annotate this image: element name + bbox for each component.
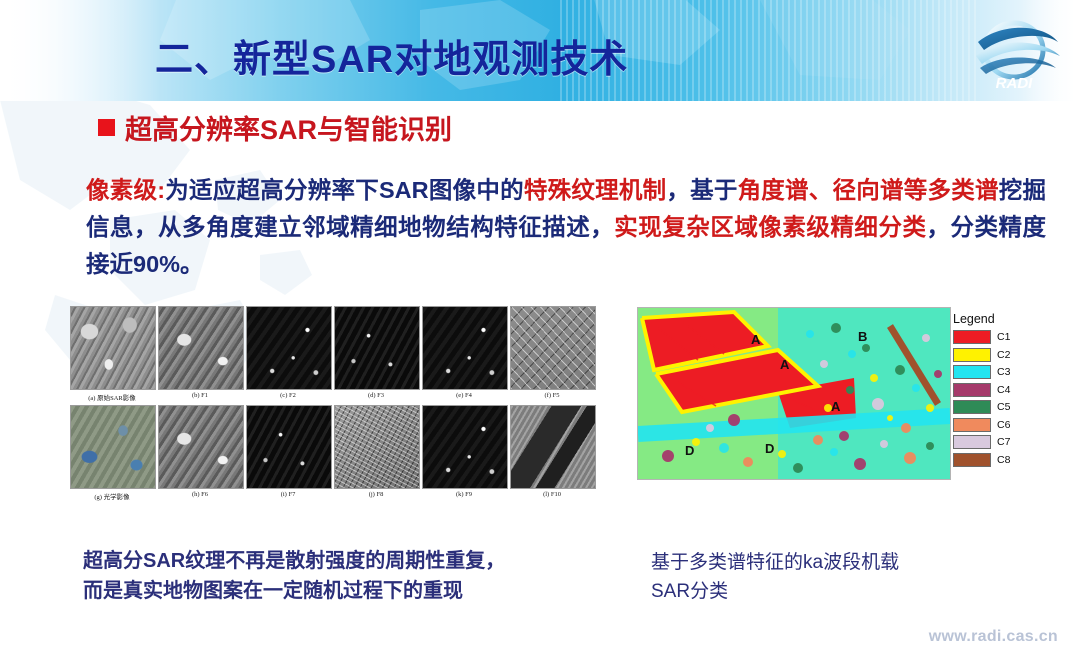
legend-item-label: C7 xyxy=(997,436,1010,448)
sar-image-caption: (e) F4 xyxy=(422,392,506,399)
legend-item-label: C6 xyxy=(997,419,1010,431)
sar-image-caption: (d) F3 xyxy=(334,392,418,399)
legend-item-label: C4 xyxy=(997,384,1010,396)
legend-title: Legend xyxy=(953,312,1025,326)
legend-color-swatch xyxy=(953,383,991,397)
legend-item: C7 xyxy=(953,435,1025,449)
legend-color-swatch xyxy=(953,435,991,449)
left-figure-caption: 超高分SAR纹理不再是散射强度的周期性重复， 而是真实地物图案在一定随机过程下的… xyxy=(83,546,623,606)
legend-item: C5 xyxy=(953,400,1025,414)
sar-image-thumbnail xyxy=(246,405,332,489)
legend-item: C3 xyxy=(953,365,1025,379)
sar-grid-cell: (d) F3 xyxy=(334,306,418,405)
map-region-label: D xyxy=(765,441,774,456)
sar-image-thumbnail xyxy=(510,306,596,390)
sar-image-thumbnail xyxy=(422,405,508,489)
logo-text: RADI xyxy=(996,75,1033,92)
left-caption-line-2: 而是真实地物图案在一定随机过程下的重现 xyxy=(83,576,623,606)
sar-grid-cell: (j) F8 xyxy=(334,405,418,504)
map-region-label: D xyxy=(685,443,694,458)
sar-image-thumbnail xyxy=(70,405,156,489)
sar-image-thumbnail xyxy=(158,405,244,489)
sar-image-caption: (g) 光学影像 xyxy=(70,491,154,501)
legend-item: C1 xyxy=(953,330,1025,344)
legend-item-label: C1 xyxy=(997,331,1010,343)
sar-grid-cell: (f) F5 xyxy=(510,306,594,405)
sar-grid-cell: (c) F2 xyxy=(246,306,330,405)
legend-color-swatch xyxy=(953,418,991,432)
paragraph-segment-4: 角度谱、径向谱等多类谱 xyxy=(738,177,999,203)
sar-image-thumbnail xyxy=(334,306,420,390)
map-region-label: B xyxy=(858,329,867,344)
sar-grid-cell: (e) F4 xyxy=(422,306,506,405)
footer-url[interactable]: www.radi.cas.cn xyxy=(929,628,1058,646)
page-title: 二、新型SAR对地观测技术 xyxy=(155,28,628,83)
legend-item: C4 xyxy=(953,383,1025,397)
map-region-label: A xyxy=(751,332,760,347)
map-legend: Legend C1C2C3C4C5C6C7C8 xyxy=(953,312,1025,470)
sar-image-caption: (i) F7 xyxy=(246,491,330,498)
section-heading: 超高分辨率SAR与智能识别 xyxy=(98,108,452,147)
body-paragraph: 像素级:为适应超高分辨率下SAR图像中的特殊纹理机制，基于角度谱、径向谱等多类谱… xyxy=(86,172,1046,283)
square-bullet-icon xyxy=(98,119,115,136)
sar-grid-cell: (a) 原始SAR影像 xyxy=(70,306,154,405)
paragraph-segment-6: 实现复杂区域像素级精细分类 xyxy=(614,214,926,240)
sar-image-caption: (h) F6 xyxy=(158,491,242,498)
paragraph-segment-2: 特殊纹理机制 xyxy=(524,177,666,203)
legend-color-swatch xyxy=(953,365,991,379)
sar-grid-cell: (b) F1 xyxy=(158,306,242,405)
sar-grid-row-2: (g) 光学影像(h) F6(i) F7(j) F8(k) F9(l) F10 xyxy=(70,405,606,504)
radi-logo-icon: RADI xyxy=(962,16,1066,92)
slide: 二、新型SAR对地观测技术 RADI 超高分辨率SAR与 xyxy=(0,0,1080,662)
paragraph-segment-0: 像素级: xyxy=(86,177,165,203)
sar-image-thumbnail xyxy=(422,306,508,390)
sar-image-caption: (f) F5 xyxy=(510,392,594,399)
sar-image-thumbnail xyxy=(510,405,596,489)
header-fade-left xyxy=(0,0,160,101)
paragraph-segment-1: 为适应超高分辨率下SAR图像中的 xyxy=(165,177,524,203)
sar-image-thumbnail xyxy=(246,306,332,390)
right-caption-line-1: 基于多类谱特征的ka波段机载 xyxy=(651,548,981,577)
sar-grid-cell: (l) F10 xyxy=(510,405,594,504)
map-region-label: A xyxy=(831,399,840,414)
right-figure-caption: 基于多类谱特征的ka波段机载 SAR分类 xyxy=(651,548,981,606)
sar-image-thumbnail xyxy=(158,306,244,390)
sar-feature-grid: (a) 原始SAR影像(b) F1(c) F2(d) F3(e) F4(f) F… xyxy=(70,306,606,532)
sar-grid-cell: (k) F9 xyxy=(422,405,506,504)
sar-image-caption: (a) 原始SAR影像 xyxy=(70,392,154,402)
sar-image-caption: (c) F2 xyxy=(246,392,330,399)
left-caption-line-1: 超高分SAR纹理不再是散射强度的周期性重复， xyxy=(83,546,623,576)
sar-image-caption: (l) F10 xyxy=(510,491,594,498)
classification-map: AAABDD xyxy=(637,307,951,480)
right-caption-line-2: SAR分类 xyxy=(651,577,981,606)
sar-image-caption: (j) F8 xyxy=(334,491,418,498)
legend-item-label: C5 xyxy=(997,401,1010,413)
legend-color-swatch xyxy=(953,400,991,414)
sar-image-thumbnail xyxy=(334,405,420,489)
sar-image-thumbnail xyxy=(70,306,156,390)
sar-grid-row-1: (a) 原始SAR影像(b) F1(c) F2(d) F3(e) F4(f) F… xyxy=(70,306,606,405)
sar-image-caption: (b) F1 xyxy=(158,392,242,399)
sar-image-caption: (k) F9 xyxy=(422,491,506,498)
legend-item-label: C3 xyxy=(997,366,1010,378)
map-region-label: A xyxy=(780,357,789,372)
legend-color-swatch xyxy=(953,453,991,467)
legend-item: C6 xyxy=(953,418,1025,432)
section-title: 超高分辨率SAR与智能识别 xyxy=(125,108,452,147)
sar-grid-cell: (h) F6 xyxy=(158,405,242,504)
legend-color-swatch xyxy=(953,348,991,362)
legend-item-label: C8 xyxy=(997,454,1010,466)
paragraph-segment-3: ，基于 xyxy=(666,177,737,203)
legend-color-swatch xyxy=(953,330,991,344)
sar-grid-cell: (g) 光学影像 xyxy=(70,405,154,504)
legend-item: C8 xyxy=(953,453,1025,467)
sar-grid-cell: (i) F7 xyxy=(246,405,330,504)
legend-item-label: C2 xyxy=(997,349,1010,361)
legend-item: C2 xyxy=(953,348,1025,362)
